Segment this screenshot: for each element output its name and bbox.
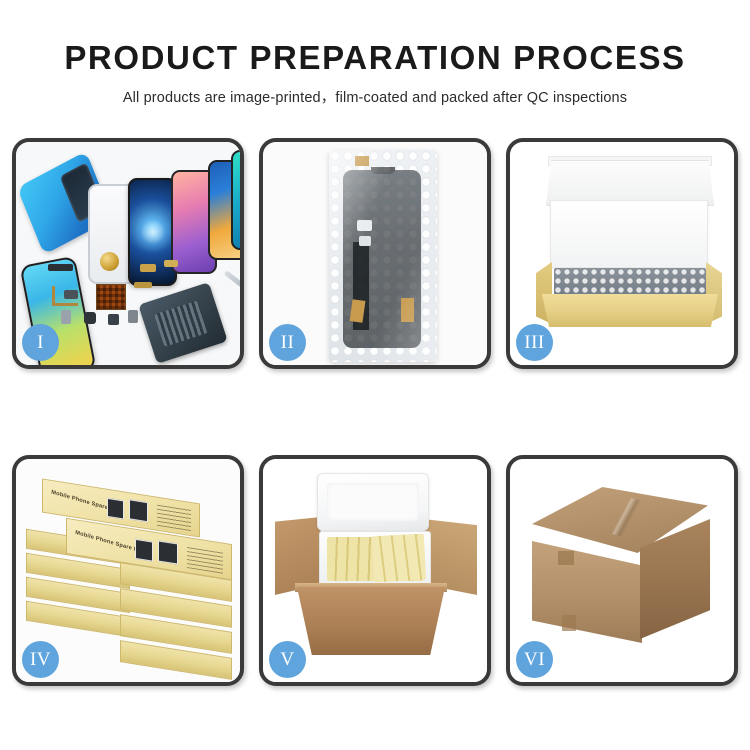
bubble-wrap-bag-icon [329,150,437,362]
header: PRODUCT PREPARATION PROCESS All products… [0,40,750,107]
box-stack: Mobile Phone Spare Parts Mobile Phone Sp… [24,479,232,671]
carton-tape-icon [558,551,574,565]
small-part-icon [64,290,78,299]
carton-front-face-icon [532,541,642,643]
tape-strip-icon [355,156,369,166]
box-thumbnail-icon [135,539,153,562]
small-part-icon [140,264,156,272]
step-badge-3: III [516,324,553,361]
small-part-icon [84,312,96,324]
small-part-icon [108,314,119,325]
foam-cooler-lid-icon [317,473,429,531]
packed-inner-boxes-icon [372,534,426,583]
tweezers-icon [224,270,240,299]
carton-body-icon [297,587,445,655]
step-badge-6: VI [516,641,553,678]
process-step-panel-3[interactable]: III [506,138,738,369]
speaker-coil-icon [100,252,119,271]
step-badge-2: II [269,324,306,361]
foam-sheet-icon [550,200,708,268]
chip-grid-icon [96,284,126,310]
small-part-icon [128,310,138,323]
process-step-grid: I II [12,138,738,686]
carton-tape-icon [562,615,576,631]
process-step-panel-1[interactable]: I [12,138,244,369]
connector-bar-icon [48,264,73,271]
page-title: PRODUCT PREPARATION PROCESS [0,40,750,76]
tape-strip-icon [401,298,414,322]
product-preparation-page: PRODUCT PREPARATION PROCESS All products… [0,0,750,750]
box-thumbnail-icon [158,540,178,564]
step-badge-5: V [269,641,306,678]
small-part-icon [61,310,71,324]
small-part-icon [134,282,152,288]
step-badge-4: IV [22,641,59,678]
logic-board-icon [138,282,228,364]
process-step-panel-2[interactable]: II [259,138,491,369]
box-thumbnail-icon [107,498,124,520]
process-step-panel-6[interactable]: VI [506,455,738,686]
protective-pad-icon [359,236,371,246]
process-step-panel-4[interactable]: Mobile Phone Spare Parts Mobile Phone Sp… [12,455,244,686]
process-step-panel-5[interactable]: V [259,455,491,686]
box-front-panel-icon [542,294,718,327]
small-part-icon [164,260,178,267]
protective-pad-icon [357,220,372,231]
phone-screen-teal-icon [231,150,240,250]
step-badge-1: I [22,324,59,361]
box-thumbnail-icon [129,499,148,522]
page-subtitle: All products are image-printed，film-coat… [0,86,750,107]
